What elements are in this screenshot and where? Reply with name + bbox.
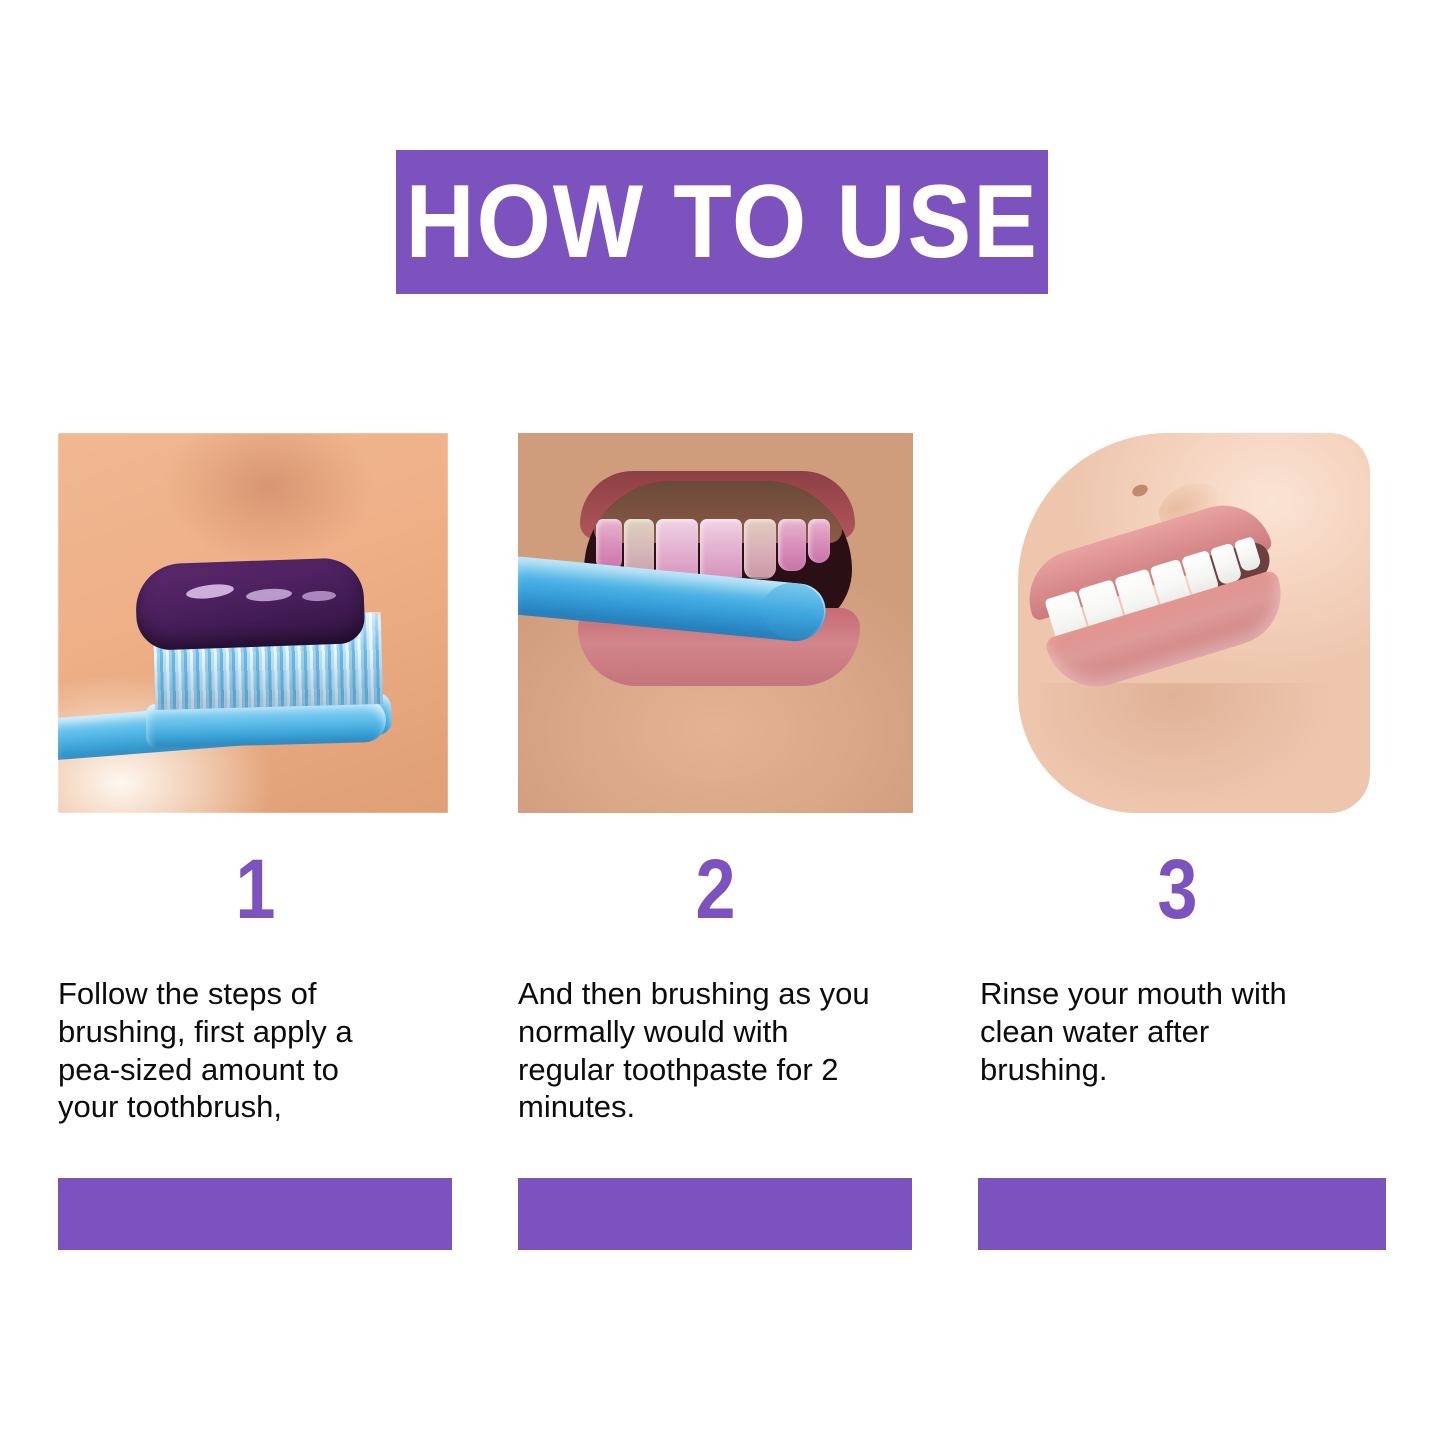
step-2-image (518, 433, 913, 813)
bottom-bars-container (0, 1178, 1445, 1258)
step-2-number: 2 (546, 847, 886, 931)
tooth (778, 519, 806, 571)
step-3-image (980, 433, 1370, 813)
step-1-description: Follow the steps of brushing, first appl… (58, 975, 380, 1126)
step-1-image (58, 433, 448, 813)
tooth (808, 519, 830, 563)
step-column-1: 1 Follow the steps of brushing, first ap… (58, 433, 453, 1126)
step-2-description: And then brushing as you normally would … (518, 975, 878, 1126)
tooth (744, 519, 776, 579)
tooth (596, 519, 622, 571)
page-title: HOW TO USE (405, 170, 1038, 274)
purple-toothpaste-blob (135, 557, 366, 651)
step-1-number: 1 (86, 847, 426, 931)
step-3-number: 3 (1008, 847, 1348, 931)
bottom-bar-3 (978, 1178, 1386, 1250)
how-to-use-infographic: HOW TO USE 1 Follow the steps of brushin… (0, 0, 1445, 1445)
step-column-3: 3 Rinse your mouth with clean water afte… (980, 433, 1375, 1088)
bottom-bar-1 (58, 1178, 452, 1250)
step-3-description: Rinse your mouth with clean water after … (980, 975, 1320, 1088)
page-title-banner: HOW TO USE (396, 150, 1048, 294)
bottom-bar-2 (518, 1178, 912, 1250)
chin-shadow (1040, 683, 1340, 813)
step-column-2: 2 And then brushing as you normally woul… (518, 433, 913, 1126)
steps-container: 1 Follow the steps of brushing, first ap… (0, 433, 1445, 1293)
